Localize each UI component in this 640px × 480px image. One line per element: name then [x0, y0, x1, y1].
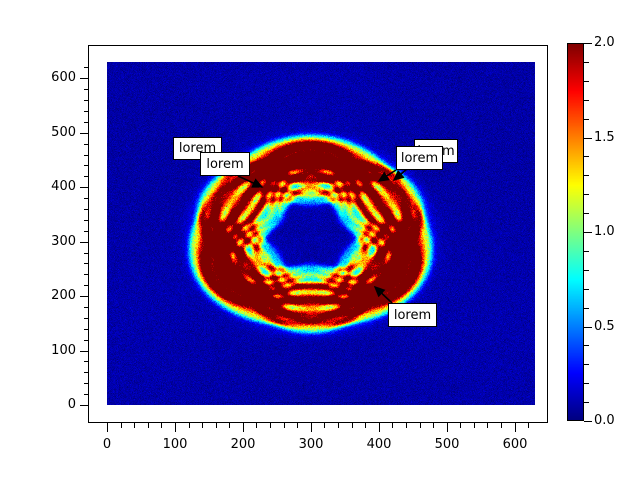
x-axis-minor-tick — [474, 423, 475, 428]
x-axis-tick — [447, 423, 448, 432]
colorbar-minor-tick — [584, 308, 589, 309]
colorbar-minor-tick — [584, 175, 589, 176]
y-axis-minor-tick — [84, 111, 89, 112]
x-axis-tick-label: 600 — [485, 437, 545, 452]
y-axis-tick-label: 300 — [30, 234, 76, 249]
x-axis-tick — [515, 423, 516, 432]
x-axis-minor-tick — [487, 423, 488, 428]
y-axis-minor-tick — [84, 340, 89, 341]
x-axis-minor-tick — [229, 423, 230, 428]
y-axis-tick-label: 200 — [30, 288, 76, 303]
x-axis-tick — [175, 423, 176, 432]
x-axis-tick-label: 300 — [281, 437, 341, 452]
x-axis-minor-tick — [297, 423, 298, 428]
y-axis-tick-label: 600 — [30, 70, 76, 85]
y-axis-tick — [80, 78, 89, 79]
figure-canvas: 01002003004005006000100200300400500600 0… — [0, 0, 640, 480]
colorbar-tick-label: 2.0 — [594, 35, 615, 50]
x-axis-minor-tick — [392, 423, 393, 428]
x-axis-minor-tick — [352, 423, 353, 428]
x-axis-minor-tick — [420, 423, 421, 428]
colorbar-minor-tick — [584, 289, 589, 290]
x-axis-minor-tick — [433, 423, 434, 428]
y-axis-tick — [80, 296, 89, 297]
x-axis-tick-label: 400 — [349, 437, 409, 452]
x-axis-tick — [243, 423, 244, 432]
colorbar-minor-tick — [584, 402, 589, 403]
x-axis-tick — [107, 423, 108, 432]
y-axis-minor-tick — [84, 209, 89, 210]
y-axis-tick-label: 400 — [30, 179, 76, 194]
x-axis-minor-tick — [284, 423, 285, 428]
colorbar-tick-label: 0.5 — [594, 319, 615, 334]
colorbar-tick-label: 1.5 — [594, 130, 615, 145]
y-axis-tick — [80, 133, 89, 134]
x-axis-tick-label: 200 — [213, 437, 273, 452]
x-axis-minor-tick — [528, 423, 529, 428]
y-axis-minor-tick — [84, 372, 89, 373]
colorbar-minor-tick — [584, 100, 589, 101]
y-axis-minor-tick — [84, 394, 89, 395]
colorbar-minor-tick — [584, 156, 589, 157]
heatmap-image — [107, 62, 535, 405]
y-axis-minor-tick — [84, 231, 89, 232]
x-axis-minor-tick — [202, 423, 203, 428]
colorbar — [567, 43, 584, 421]
x-axis-minor-tick — [324, 423, 325, 428]
x-axis-minor-tick — [161, 423, 162, 428]
y-axis-minor-tick — [84, 176, 89, 177]
x-axis-minor-tick — [256, 423, 257, 428]
annotation-label-box[interactable]: lorem — [200, 152, 250, 176]
y-axis-minor-tick — [84, 89, 89, 90]
y-axis-minor-tick — [84, 100, 89, 101]
colorbar-tick-label: 0.0 — [594, 413, 615, 428]
y-axis-minor-tick — [84, 220, 89, 221]
y-axis-minor-tick — [84, 144, 89, 145]
colorbar-minor-tick — [584, 62, 589, 63]
y-axis-tick-label: 500 — [30, 125, 76, 140]
y-axis-minor-tick — [84, 274, 89, 275]
x-axis-minor-tick — [365, 423, 366, 428]
y-axis-minor-tick — [84, 263, 89, 264]
x-axis-minor-tick — [189, 423, 190, 428]
colorbar-minor-tick — [584, 194, 589, 195]
colorbar-gradient — [567, 43, 584, 421]
x-axis-tick-label: 100 — [145, 437, 205, 452]
colorbar-minor-tick — [584, 364, 589, 365]
x-axis-minor-tick — [216, 423, 217, 428]
x-axis-minor-tick — [134, 423, 135, 428]
x-axis-minor-tick — [406, 423, 407, 428]
y-axis-tick — [80, 351, 89, 352]
y-axis-minor-tick — [84, 318, 89, 319]
annotation-label-box[interactable]: lorem — [388, 303, 437, 327]
y-axis-minor-tick — [84, 383, 89, 384]
y-axis-tick — [80, 405, 89, 406]
y-axis-minor-tick — [84, 67, 89, 68]
x-axis-minor-tick — [121, 423, 122, 428]
y-axis-minor-tick — [84, 122, 89, 123]
y-axis-tick — [80, 242, 89, 243]
y-axis-minor-tick — [84, 155, 89, 156]
y-axis-tick-label: 100 — [30, 343, 76, 358]
x-axis-minor-tick — [148, 423, 149, 428]
colorbar-minor-tick — [584, 81, 589, 82]
colorbar-minor-tick — [584, 345, 589, 346]
y-axis-minor-tick — [84, 307, 89, 308]
colorbar-tick — [584, 327, 592, 328]
x-axis-tick — [311, 423, 312, 432]
y-axis-tick-label: 0 — [30, 397, 76, 412]
y-axis-minor-tick — [84, 329, 89, 330]
x-axis-minor-tick — [460, 423, 461, 428]
x-axis-tick — [379, 423, 380, 432]
x-axis-minor-tick — [270, 423, 271, 428]
colorbar-tick — [584, 421, 592, 422]
colorbar-tick-label: 1.0 — [594, 224, 615, 239]
x-axis-minor-tick — [338, 423, 339, 428]
y-axis-minor-tick — [84, 285, 89, 286]
y-axis-minor-tick — [84, 198, 89, 199]
colorbar-tick — [584, 138, 592, 139]
y-axis-tick — [80, 187, 89, 188]
x-axis-minor-tick — [501, 423, 502, 428]
colorbar-tick — [584, 232, 592, 233]
colorbar-minor-tick — [584, 251, 589, 252]
annotation-label-box[interactable]: lorem — [396, 146, 443, 170]
colorbar-minor-tick — [584, 119, 589, 120]
x-axis-tick-label: 500 — [417, 437, 477, 452]
colorbar-tick — [584, 43, 592, 44]
colorbar-minor-tick — [584, 270, 589, 271]
y-axis-minor-tick — [84, 253, 89, 254]
colorbar-minor-tick — [584, 383, 589, 384]
colorbar-minor-tick — [584, 213, 589, 214]
x-axis-tick-label: 0 — [77, 437, 137, 452]
y-axis-minor-tick — [84, 165, 89, 166]
y-axis-minor-tick — [84, 361, 89, 362]
